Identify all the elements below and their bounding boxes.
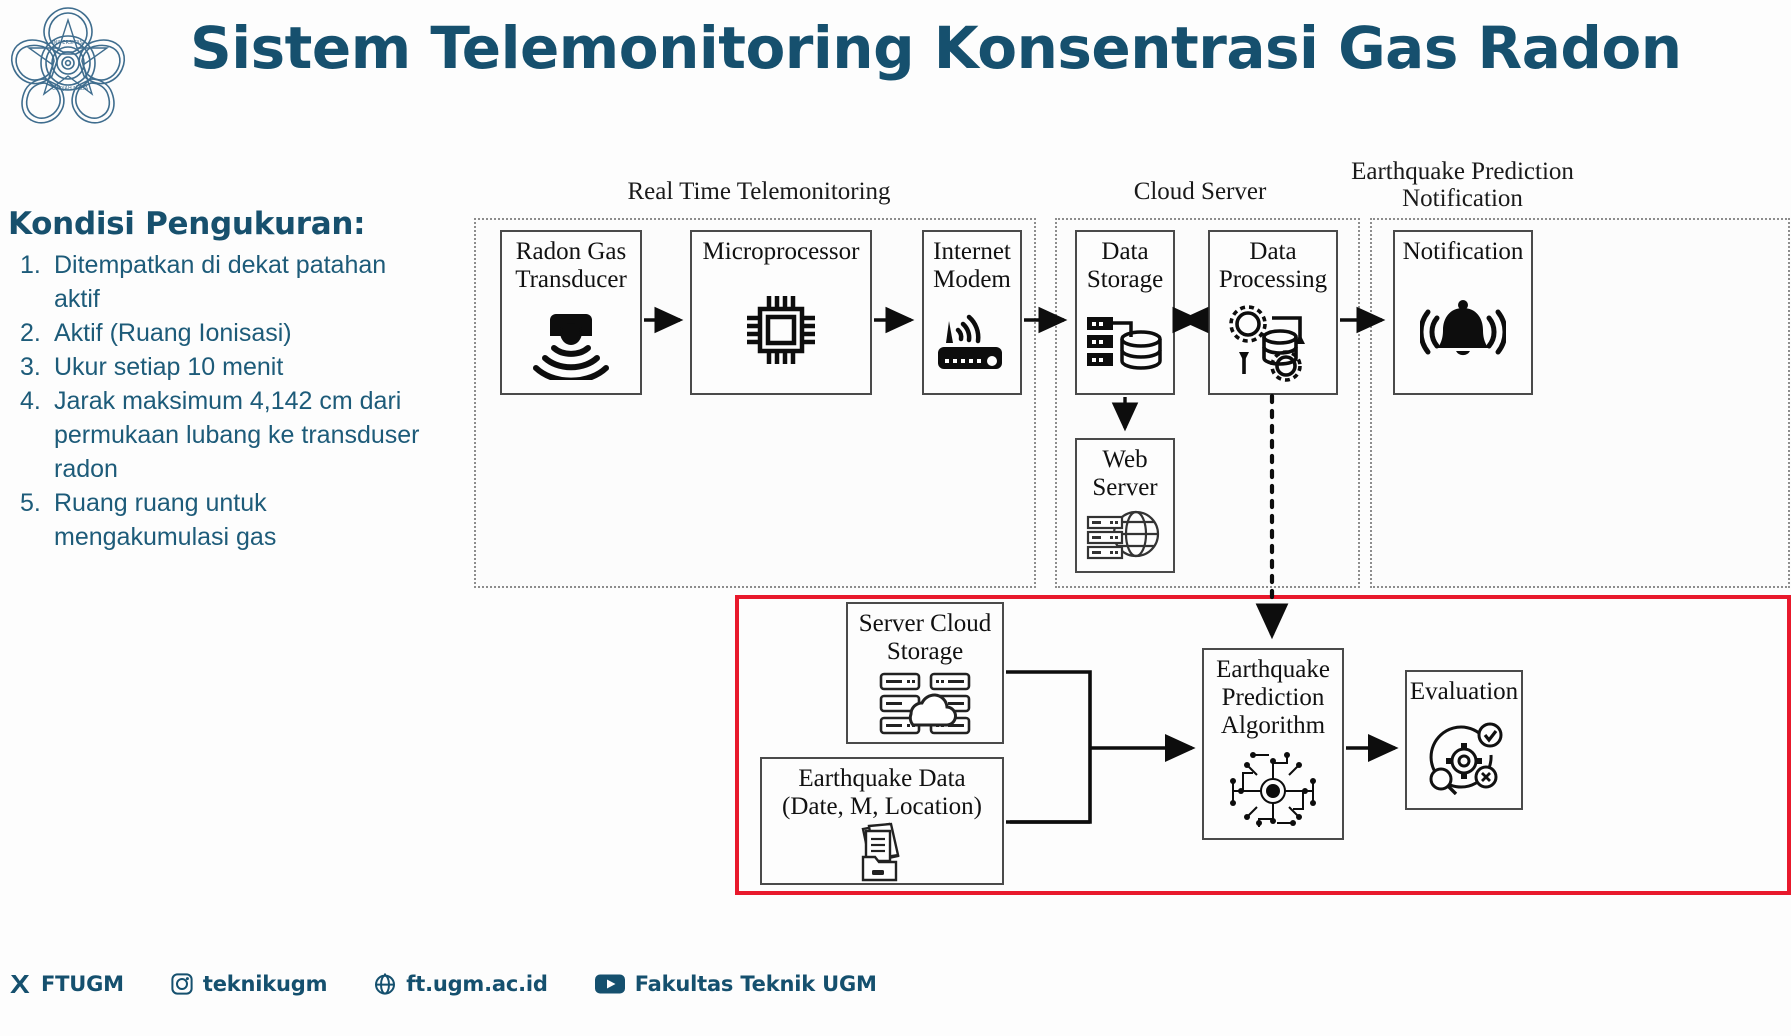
- instagram-icon: [170, 972, 194, 996]
- left-panel-heading: Kondisi Pengukuran:: [8, 206, 438, 242]
- slide-root: UNIVERSITAS GADJAH MADA Sistem Telemonit…: [0, 0, 1791, 1036]
- node-label: Evaluation: [1410, 672, 1518, 706]
- node-label: Web Server: [1092, 440, 1157, 502]
- node-earthquake-prediction-algorithm: Earthquake Prediction Algorithm: [1202, 648, 1344, 840]
- web-server-globe-icon: [1077, 502, 1173, 571]
- node-label: Radon Gas Transducer: [515, 232, 627, 294]
- list-item: Ruang ruang untuk mengakumulasi gas: [18, 486, 438, 554]
- x-twitter-icon: [8, 972, 32, 996]
- globe-icon: [373, 972, 397, 996]
- router-icon: [924, 294, 1020, 393]
- group-label-real-time-telemonitoring: Real Time Telemonitoring: [624, 178, 894, 205]
- ugm-logo: UNIVERSITAS GADJAH MADA: [6, 4, 130, 124]
- bell-icon: [1395, 266, 1531, 393]
- footer-item-instagram[interactable]: teknikugm: [170, 972, 327, 996]
- node-radon-gas-transducer: Radon Gas Transducer: [500, 230, 642, 395]
- group-box-earthquake-prediction-notification: [1370, 218, 1790, 588]
- node-evaluation: Evaluation: [1405, 670, 1523, 810]
- node-internet-modem: Internet Modem: [922, 230, 1022, 395]
- node-label: Data Storage: [1087, 232, 1163, 294]
- radon-sensor-icon: [502, 294, 640, 393]
- documents-folder-icon: [762, 821, 1002, 883]
- footer-item-youtube[interactable]: Fakultas Teknik UGM: [594, 972, 877, 996]
- node-label: Data Processing: [1219, 232, 1327, 294]
- cloud-servers-icon: [848, 666, 1002, 742]
- list-item: Ukur setiap 10 menit: [18, 350, 438, 384]
- footer-item-label: Fakultas Teknik UGM: [635, 972, 877, 996]
- node-web-server: Web Server: [1075, 438, 1175, 573]
- node-label: Microprocessor: [703, 232, 860, 266]
- node-label: Notification: [1403, 232, 1524, 266]
- node-server-cloud-storage: Server Cloud Storage: [846, 602, 1004, 744]
- node-label: Earthquake Prediction Algorithm: [1216, 650, 1330, 740]
- footer-social-bar: FTUGM teknikugm: [8, 972, 923, 996]
- footer-item-x[interactable]: FTUGM: [8, 972, 124, 996]
- evaluation-gear-check-icon: [1407, 706, 1521, 808]
- node-data-processing: Data Processing: [1208, 230, 1338, 395]
- node-data-storage: Data Storage: [1075, 230, 1175, 395]
- group-box-cloud-server: [1055, 218, 1360, 588]
- microchip-icon: [692, 266, 870, 393]
- page-title: Sistem Telemonitoring Konsentrasi Gas Ra…: [190, 14, 1681, 82]
- neural-circuit-icon: [1204, 740, 1342, 838]
- node-notification: Notification: [1393, 230, 1533, 395]
- group-label-cloud-server: Cloud Server: [1110, 178, 1290, 205]
- node-microprocessor: Microprocessor: [690, 230, 872, 395]
- svg-text:UNIVERSITAS: UNIVERSITAS: [50, 40, 83, 46]
- footer-item-label: ft.ugm.ac.id: [406, 972, 547, 996]
- list-item: Jarak maksimum 4,142 cm dari permukaan l…: [18, 384, 438, 486]
- list-item: Aktif (Ruang Ionisasi): [18, 316, 438, 350]
- node-label: Internet Modem: [933, 232, 1011, 294]
- svg-text:GADJAH MADA: GADJAH MADA: [52, 86, 89, 92]
- node-label: Earthquake Data (Date, M, Location): [782, 759, 982, 821]
- group-label-earthquake-prediction-notification: Earthquake Prediction Notification: [1330, 158, 1595, 212]
- list-item: Ditempatkan di dekat patahan aktif: [18, 248, 438, 316]
- group-box-real-time-telemonitoring: [474, 218, 1036, 588]
- server-database-icon: [1077, 294, 1173, 393]
- measurement-conditions-panel: Kondisi Pengukuran: Ditempatkan di dekat…: [8, 206, 438, 554]
- footer-item-website[interactable]: ft.ugm.ac.id: [373, 972, 547, 996]
- youtube-icon: [594, 972, 626, 996]
- footer-item-label: teknikugm: [203, 972, 327, 996]
- conditions-list: Ditempatkan di dekat patahan aktif Aktif…: [8, 248, 438, 554]
- node-label: Server Cloud Storage: [859, 604, 992, 666]
- gears-database-icon: [1210, 294, 1336, 393]
- footer-item-label: FTUGM: [41, 972, 124, 996]
- node-earthquake-data: Earthquake Data (Date, M, Location): [760, 757, 1004, 885]
- earthquake-prediction-highlight-box: [735, 595, 1791, 895]
